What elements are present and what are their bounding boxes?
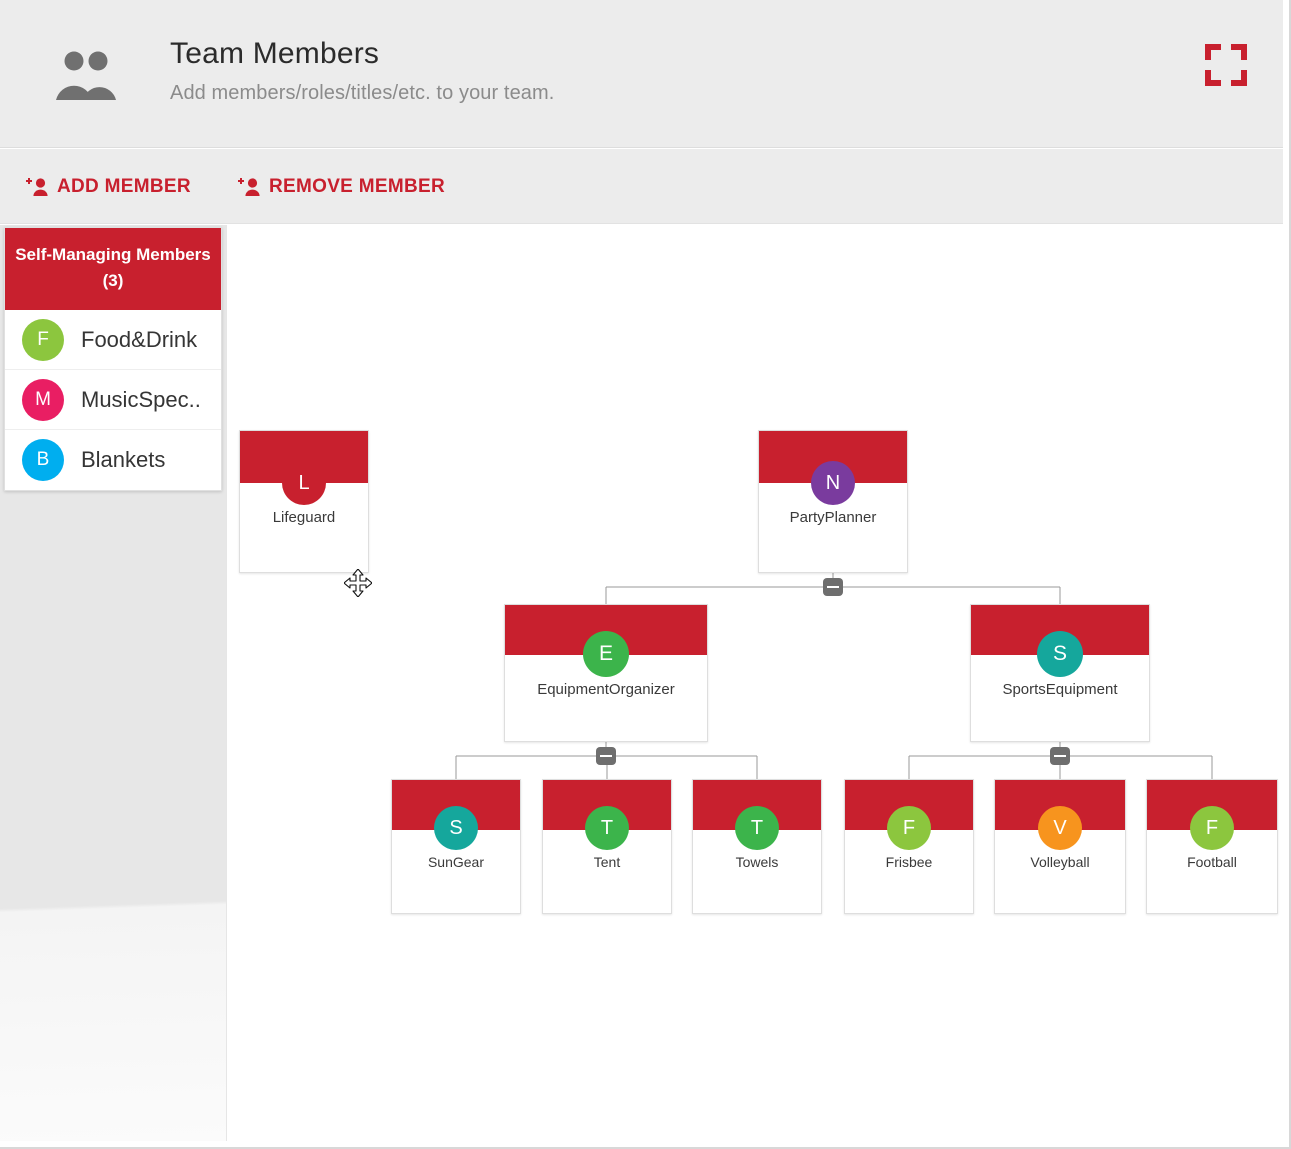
avatar: F [22,319,64,361]
move-cursor-icon [344,569,372,597]
remove-member-button[interactable]: REMOVE MEMBER [238,149,445,224]
org-node-sportsequipment[interactable]: SSportsEquipment [970,604,1150,742]
remove-member-label: REMOVE MEMBER [269,176,445,198]
self-managing-panel: Self-Managing Members (3) FFood&DrinkMMu… [0,225,226,1141]
people-icon [52,46,122,102]
org-node-frisbee[interactable]: FFrisbee [844,779,974,914]
add-person-icon [26,177,50,197]
self-managing-member-row[interactable]: MMusicSpec.. [5,370,221,430]
org-node-label: Towels [693,854,821,870]
add-member-button[interactable]: ADD MEMBER [26,149,191,224]
org-node-equipmentorganizer[interactable]: EEquipmentOrganizer [504,604,708,742]
org-node-label: Frisbee [845,854,973,870]
self-managing-member-row[interactable]: FFood&Drink [5,310,221,370]
avatar: M [22,379,64,421]
member-toolbar: ADD MEMBER REMOVE MEMBER [0,149,1283,224]
org-chart-canvas[interactable]: LLifeguardNPartyPlannerEEquipmentOrganiz… [226,225,1283,1141]
collapse-button-partyplanner[interactable] [823,578,843,596]
org-node-tent[interactable]: TTent [542,779,672,914]
team-members-window: Team Members Add members/roles/titles/et… [0,0,1291,1149]
collapse-button-equipmentorganizer[interactable] [596,747,616,765]
org-node-avatar: S [1037,631,1083,677]
org-node-avatar: V [1038,806,1082,850]
org-node-label: SunGear [392,854,520,870]
org-node-avatar: E [583,631,629,677]
page-title: Team Members [170,34,554,74]
self-managing-member-label: Blankets [81,447,165,473]
org-node-lifeguard[interactable]: LLifeguard [239,430,369,573]
collapse-button-sportsequipment[interactable] [1050,747,1070,765]
org-node-label: Tent [543,854,671,870]
org-node-sungear[interactable]: SSunGear [391,779,521,914]
self-managing-member-row[interactable]: BBlankets [5,430,221,490]
self-managing-members-card: Self-Managing Members (3) FFood&DrinkMMu… [4,227,222,491]
page-subtitle: Add members/roles/titles/etc. to your te… [170,78,554,108]
header-text-block: Team Members Add members/roles/titles/et… [170,34,554,108]
org-node-label: SportsEquipment [971,681,1149,698]
org-node-avatar: F [887,806,931,850]
org-node-avatar: L [282,461,326,505]
org-node-towels[interactable]: TTowels [692,779,822,914]
self-managing-member-label: MusicSpec.. [81,387,201,413]
self-managing-members-list: FFood&DrinkMMusicSpec..BBlankets [5,310,221,490]
org-node-avatar: S [434,806,478,850]
org-node-partyplanner[interactable]: NPartyPlanner [758,430,908,573]
add-member-label: ADD MEMBER [57,176,191,198]
org-node-avatar: T [735,806,779,850]
org-node-label: Football [1147,854,1277,870]
org-node-avatar: N [811,461,855,505]
org-node-avatar: F [1190,806,1234,850]
org-node-football[interactable]: FFootball [1146,779,1278,914]
org-node-avatar: T [585,806,629,850]
avatar: B [22,439,64,481]
org-node-label: Lifeguard [240,509,368,526]
org-node-label: EquipmentOrganizer [505,681,707,698]
org-node-label: PartyPlanner [759,509,907,526]
self-managing-member-label: Food&Drink [81,327,197,353]
remove-person-icon [238,177,262,197]
fullscreen-icon[interactable] [1205,44,1247,86]
org-node-volleyball[interactable]: VVolleyball [994,779,1126,914]
org-node-label: Volleyball [995,854,1125,870]
panel-header: Team Members Add members/roles/titles/et… [0,0,1283,148]
self-managing-members-title: Self-Managing Members (3) [5,228,221,310]
